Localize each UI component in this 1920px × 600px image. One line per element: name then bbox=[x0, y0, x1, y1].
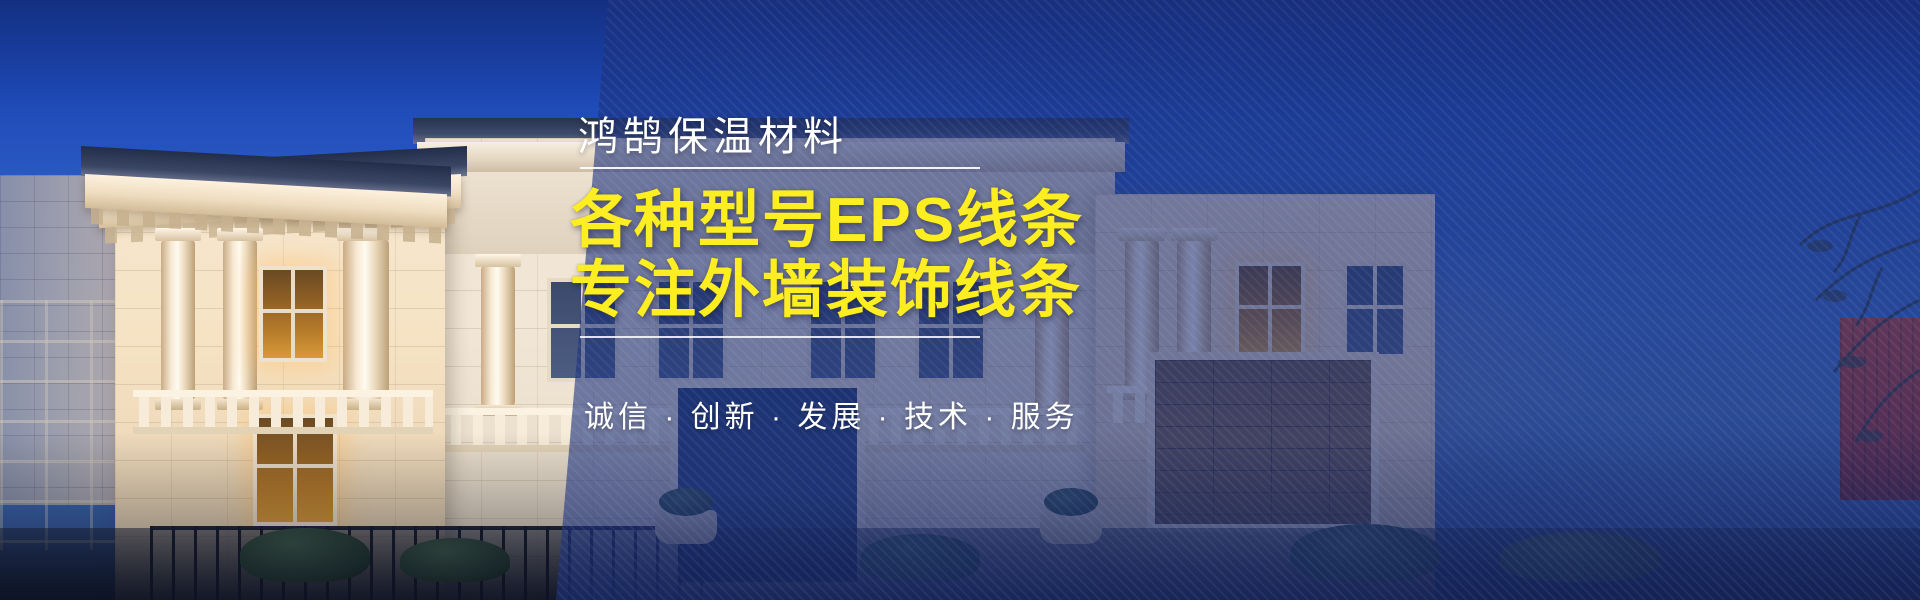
column bbox=[161, 240, 195, 400]
window bbox=[259, 266, 327, 362]
column bbox=[343, 240, 389, 400]
shrub bbox=[240, 528, 370, 582]
promo-banner: 鸿鹄保温材料 各种型号EPS线条 专注外墙装饰线条 诚信 · 创新 · 发展 ·… bbox=[0, 0, 1920, 600]
headline-block: 各种型号EPS线条 专注外墙装饰线条 bbox=[570, 186, 1450, 326]
balustrade bbox=[133, 390, 433, 434]
column bbox=[223, 240, 257, 400]
banner-content: 鸿鹄保温材料 各种型号EPS线条 专注外墙装饰线条 诚信 · 创新 · 发展 ·… bbox=[560, 0, 1460, 600]
headline-line-1: 各种型号EPS线条 bbox=[570, 186, 1450, 256]
tagline: 诚信 · 创新 · 发展 · 技术 · 服务 bbox=[584, 392, 1079, 436]
divider-bottom bbox=[580, 336, 980, 338]
headline-line-2: 专注外墙装饰线条 bbox=[570, 256, 1450, 326]
divider-top bbox=[580, 167, 980, 169]
shrub bbox=[400, 538, 510, 582]
brand-name: 鸿鹄保温材料 bbox=[578, 104, 848, 162]
column bbox=[481, 266, 515, 406]
